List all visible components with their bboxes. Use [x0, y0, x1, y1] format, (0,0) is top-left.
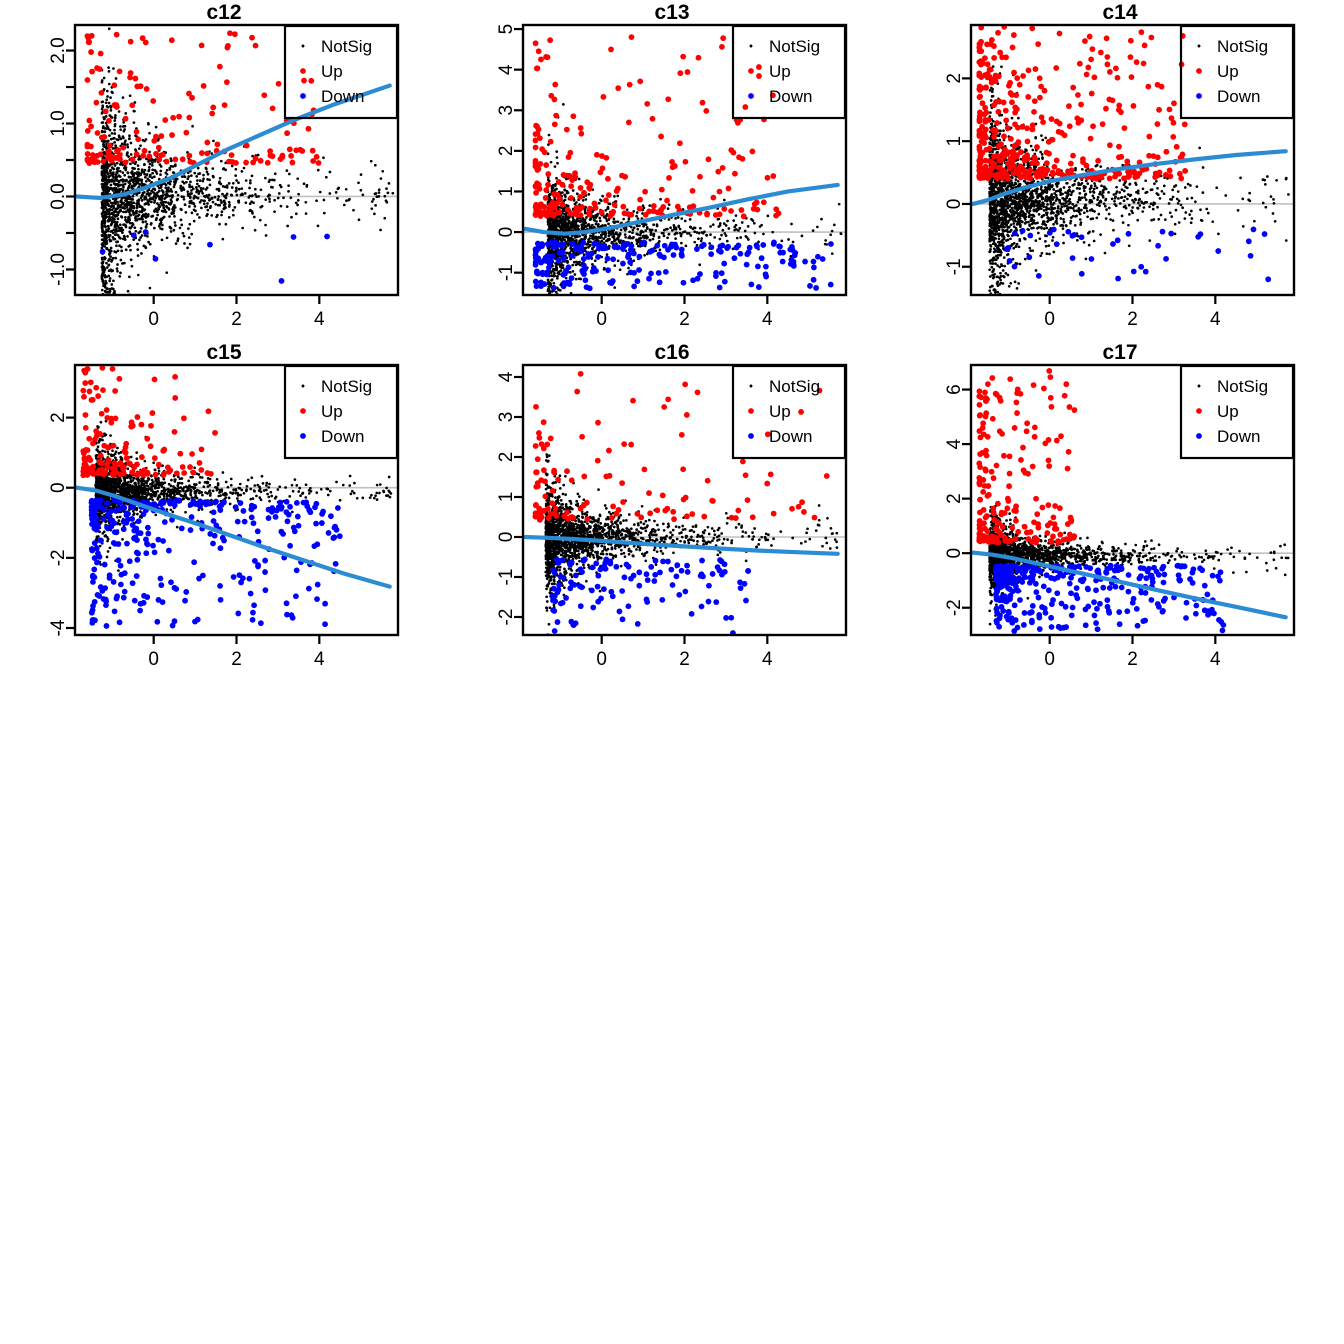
- y-axis: -1.00.01.02.0: [48, 37, 75, 286]
- x-axis: 024: [596, 295, 773, 330]
- scatter-plot-c15: -4-202024NotSigUpDown: [0, 340, 448, 680]
- x-tick-label: 0: [596, 649, 607, 670]
- legend-marker-notsig: [750, 45, 753, 48]
- points-notsig: [547, 103, 843, 296]
- legend-marker-up: [300, 408, 306, 414]
- x-tick-label: 0: [596, 309, 607, 330]
- points-down: [549, 556, 751, 636]
- legend-label-down: Down: [321, 87, 364, 106]
- y-tick-label: -1.0: [48, 253, 69, 286]
- scatter-plot-c16: -2-101234024NotSigUpDown: [448, 340, 896, 680]
- legend-marker-notsig: [302, 45, 305, 48]
- legend-label-up: Up: [769, 402, 791, 421]
- chart-panel-c12: c12-1.00.01.02.0024NotSigUpDown: [0, 0, 448, 340]
- legend-marker-down: [300, 433, 306, 439]
- legend-marker-down: [748, 93, 754, 99]
- y-tick-label: 1: [944, 136, 965, 147]
- y-tick-label: -1: [944, 258, 965, 275]
- x-axis: 024: [1044, 635, 1221, 670]
- figure-root: c12-1.00.01.02.0024NotSigUpDownc13-10123…: [0, 0, 1344, 1344]
- y-tick-label: 0: [48, 482, 69, 493]
- legend-label-down: Down: [1217, 87, 1260, 106]
- scatter-plot-c13: -1012345024NotSigUpDown: [448, 0, 896, 340]
- x-tick-label: 2: [679, 649, 690, 670]
- legend-marker-notsig: [750, 385, 753, 388]
- x-tick-label: 4: [762, 649, 773, 670]
- x-tick-label: 4: [1210, 309, 1221, 330]
- y-tick-label: 6: [944, 384, 965, 395]
- x-axis: 024: [1044, 295, 1221, 330]
- points-down: [533, 239, 834, 291]
- legend: NotSigUpDown: [733, 366, 845, 458]
- legend-label-up: Up: [321, 402, 343, 421]
- x-axis: 024: [148, 635, 325, 670]
- y-tick-label: 1: [496, 186, 517, 197]
- x-tick-label: 4: [762, 309, 773, 330]
- legend-marker-notsig: [1198, 385, 1201, 388]
- points-up: [976, 24, 1188, 182]
- y-tick-label: 2: [944, 493, 965, 504]
- y-tick-label: -1: [496, 264, 517, 281]
- legend-label-up: Up: [321, 62, 343, 81]
- legend-marker-up: [748, 68, 754, 74]
- legend-label-down: Down: [321, 427, 364, 446]
- legend: NotSigUpDown: [285, 366, 397, 458]
- y-tick-label: 0: [944, 548, 965, 559]
- legend-label-up: Up: [769, 62, 791, 81]
- y-tick-label: 2: [48, 412, 69, 423]
- x-tick-label: 4: [1210, 649, 1221, 670]
- y-tick-label: 4: [944, 438, 965, 449]
- chart-panel-c15: c15-4-202024NotSigUpDown: [0, 340, 448, 680]
- scatter-plot-c14: -1012024NotSigUpDown: [896, 0, 1344, 340]
- chart-panel-c14: c14-1012024NotSigUpDown: [896, 0, 1344, 340]
- legend-marker-up: [1196, 408, 1202, 414]
- panel-grid: c12-1.00.01.02.0024NotSigUpDownc13-10123…: [0, 0, 1344, 680]
- y-tick-label: 0: [496, 227, 517, 238]
- x-tick-label: 4: [314, 309, 325, 330]
- y-tick-label: 2: [944, 73, 965, 84]
- y-tick-label: 1.0: [48, 110, 69, 136]
- y-tick-label: 3: [496, 412, 517, 423]
- legend-label-down: Down: [769, 87, 812, 106]
- y-tick-label: 0.0: [48, 183, 69, 209]
- legend-label-down: Down: [1217, 427, 1260, 446]
- legend-marker-up: [1196, 68, 1202, 74]
- legend-marker-down: [748, 433, 754, 439]
- legend-marker-notsig: [1198, 45, 1201, 48]
- x-tick-label: 0: [1044, 649, 1055, 670]
- y-tick-label: 1: [496, 492, 517, 503]
- y-tick-label: 4: [496, 371, 517, 382]
- scatter-plot-c12: -1.00.01.02.0024NotSigUpDown: [0, 0, 448, 340]
- x-tick-label: 2: [231, 309, 242, 330]
- x-tick-label: 4: [314, 649, 325, 670]
- legend-label-up: Up: [1217, 402, 1239, 421]
- legend-label-notsig: NotSig: [1217, 37, 1268, 56]
- legend-marker-up: [300, 68, 306, 74]
- y-tick-label: 4: [496, 64, 517, 75]
- legend-marker-down: [1196, 93, 1202, 99]
- points-down: [89, 497, 343, 629]
- y-axis: -20246: [944, 384, 971, 616]
- legend-marker-up: [748, 408, 754, 414]
- legend-label-notsig: NotSig: [769, 377, 820, 396]
- chart-panel-c16: c16-2-101234024NotSigUpDown: [448, 340, 896, 680]
- y-tick-label: 3: [496, 105, 517, 116]
- points-down: [1004, 226, 1271, 282]
- legend-label-down: Down: [769, 427, 812, 446]
- points-notsig: [544, 453, 838, 636]
- y-tick-label: -1: [496, 569, 517, 586]
- legend-label-notsig: NotSig: [769, 37, 820, 56]
- y-tick-label: -2: [48, 549, 69, 566]
- x-axis: 024: [148, 295, 325, 330]
- scatter-plot-c17: -20246024NotSigUpDown: [896, 340, 1344, 680]
- legend-marker-down: [300, 93, 306, 99]
- y-tick-label: -2: [496, 609, 517, 626]
- x-tick-label: 2: [679, 309, 690, 330]
- y-tick-label: -2: [944, 599, 965, 616]
- points-up: [976, 368, 1077, 545]
- x-axis: 024: [596, 635, 773, 670]
- x-tick-label: 2: [1127, 309, 1138, 330]
- y-tick-label: 0: [496, 532, 517, 543]
- legend-label-notsig: NotSig: [1217, 377, 1268, 396]
- chart-panel-c17: c17-20246024NotSigUpDown: [896, 340, 1344, 680]
- y-axis: -1012345: [496, 24, 523, 281]
- legend: NotSigUpDown: [733, 26, 845, 118]
- x-tick-label: 0: [148, 309, 159, 330]
- y-tick-label: 5: [496, 24, 517, 35]
- points-down: [100, 229, 330, 284]
- legend: NotSigUpDown: [1181, 366, 1293, 458]
- legend-marker-down: [1196, 433, 1202, 439]
- legend-label-up: Up: [1217, 62, 1239, 81]
- y-axis: -4-202: [48, 412, 75, 636]
- y-axis: -2-101234: [496, 371, 523, 625]
- legend-marker-notsig: [302, 385, 305, 388]
- legend: NotSigUpDown: [285, 26, 397, 118]
- chart-panel-c13: c13-1012345024NotSigUpDown: [448, 0, 896, 340]
- x-tick-label: 0: [1044, 309, 1055, 330]
- y-tick-label: -4: [48, 619, 69, 636]
- y-tick-label: 2: [496, 146, 517, 157]
- y-axis: -1012: [944, 73, 971, 275]
- y-tick-label: 2: [496, 452, 517, 463]
- legend-label-notsig: NotSig: [321, 37, 372, 56]
- x-tick-label: 2: [1127, 649, 1138, 670]
- blank-area: [0, 680, 1344, 1344]
- x-tick-label: 2: [231, 649, 242, 670]
- legend: NotSigUpDown: [1181, 26, 1293, 118]
- legend-label-notsig: NotSig: [321, 377, 372, 396]
- x-tick-label: 0: [148, 649, 159, 670]
- y-tick-label: 2.0: [48, 37, 69, 63]
- y-tick-label: 0: [944, 199, 965, 210]
